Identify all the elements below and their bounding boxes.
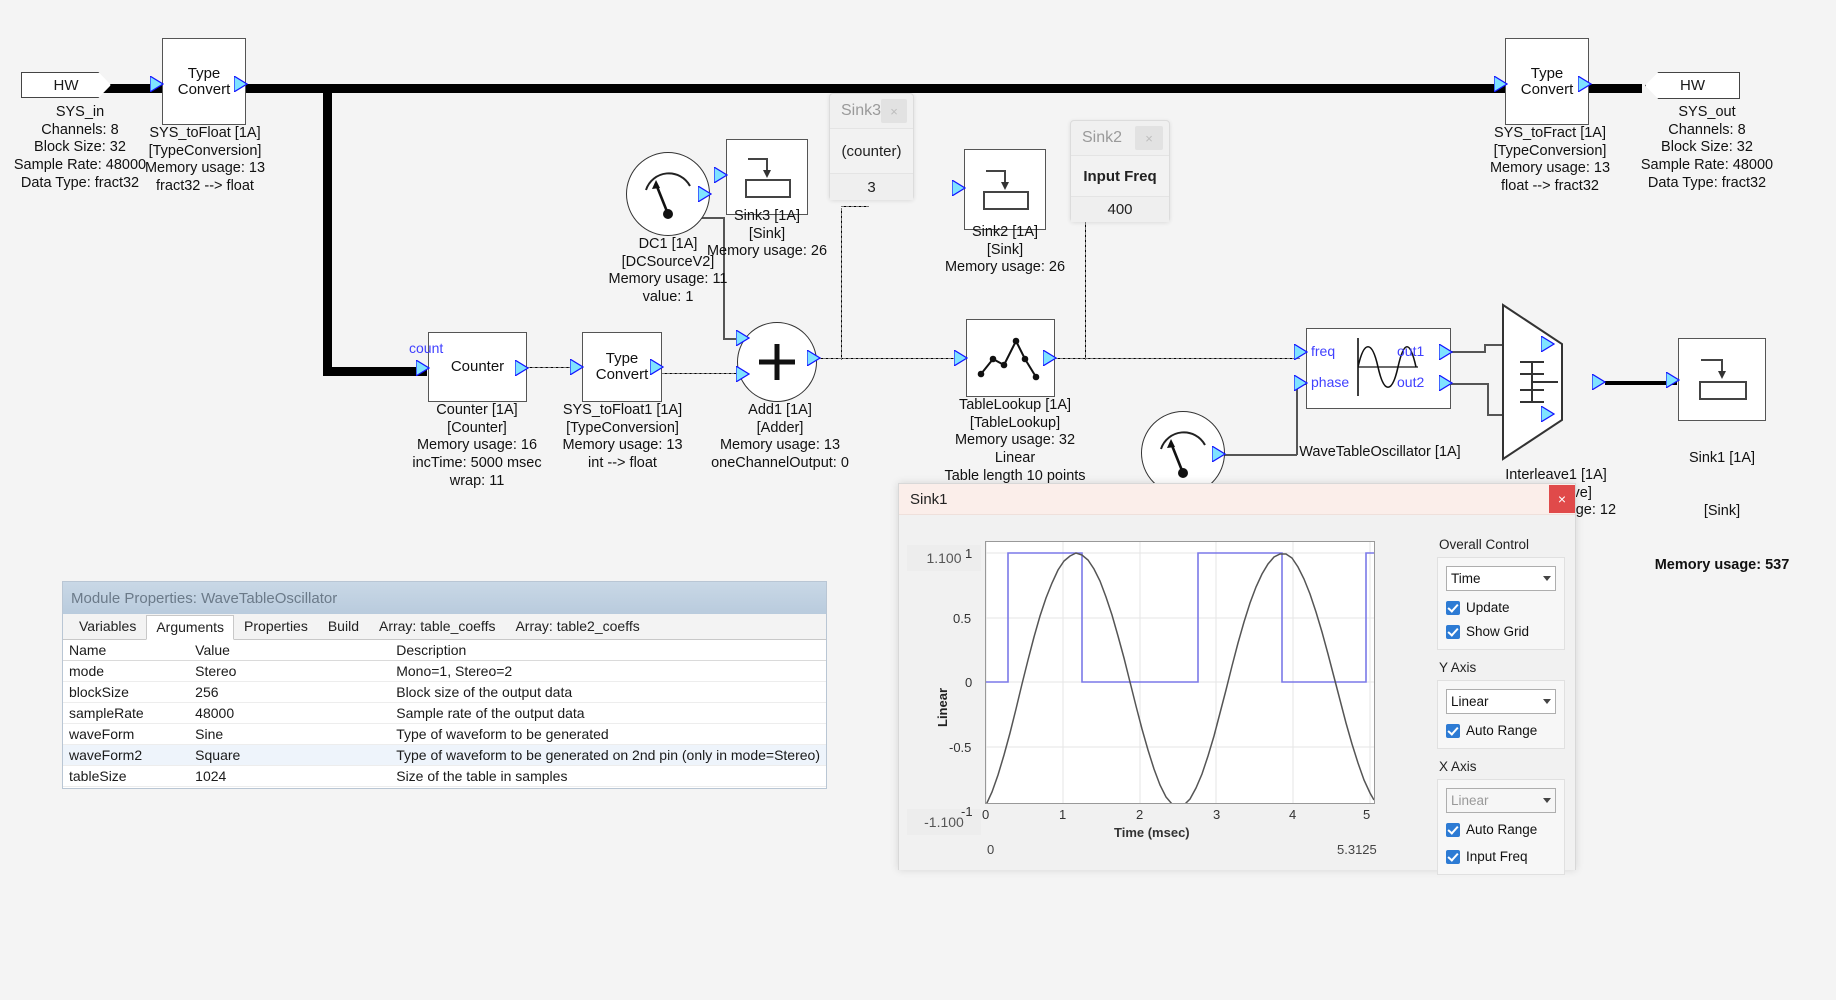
- x-axis-header: X Axis: [1439, 759, 1565, 774]
- table-header-row: Name Value Description: [63, 640, 826, 661]
- interleave-in1-port[interactable]: [1541, 336, 1555, 352]
- sys-tofract-out-port[interactable]: [1578, 76, 1592, 92]
- x-right-range[interactable]: 5.3125: [1337, 842, 1377, 857]
- zigzag-icon: [966, 319, 1055, 397]
- y-axis-value: Linear: [1451, 694, 1489, 709]
- y-auto-range-label: Auto Range: [1466, 723, 1537, 738]
- table-row[interactable]: tableSize 1024 Size of the table in samp…: [63, 766, 826, 787]
- x-tick-5: 5: [1363, 807, 1370, 822]
- wire-main-bus: [239, 84, 1505, 93]
- row-value[interactable]: 48000: [189, 703, 390, 724]
- tab-array-table2-coeffs[interactable]: Array: table2_coeffs: [505, 614, 649, 639]
- sink3-popup-window[interactable]: Sink3 × (counter) 3: [829, 93, 914, 200]
- sink1-caption-line1: Sink1 [1A]: [1632, 450, 1812, 468]
- wire-out2-v: [1487, 383, 1489, 416]
- module-properties-panel[interactable]: Module Properties: WaveTableOscillator V…: [62, 581, 827, 789]
- update-label: Update: [1466, 600, 1510, 615]
- row-name: blockSize: [63, 682, 189, 703]
- module-properties-title: Module Properties: WaveTableOscillator: [63, 582, 826, 614]
- row-value[interactable]: Sine: [189, 724, 390, 745]
- column-header-name: Name: [63, 640, 189, 661]
- x-left-range[interactable]: 0: [987, 842, 994, 857]
- show-grid-checkbox[interactable]: [1446, 625, 1460, 639]
- sink2-in-port[interactable]: [952, 180, 966, 196]
- row-description: Size of the table in samples: [390, 766, 826, 787]
- x-auto-range-checkbox[interactable]: [1446, 823, 1460, 837]
- wire-out2-a: [1450, 383, 1488, 385]
- x-tick-0: 0: [982, 807, 989, 822]
- row-name: sampleRate: [63, 703, 189, 724]
- sink1-controls[interactable]: Overall Control Time Update Show Grid: [1437, 537, 1565, 885]
- sink2-popup-titlebar[interactable]: Sink2 ×: [1071, 121, 1169, 155]
- wire-bus-down: [323, 84, 332, 375]
- interleave-in2-port[interactable]: [1541, 406, 1555, 422]
- tab-properties[interactable]: Properties: [234, 614, 318, 639]
- overall-control-select[interactable]: Time: [1446, 566, 1556, 591]
- x-axis-value: Linear: [1451, 793, 1489, 808]
- row-name: waveForm2: [63, 745, 189, 766]
- sys-tofract-box[interactable]: Type Convert: [1505, 38, 1589, 125]
- sink3-popup-body: (counter): [830, 128, 913, 174]
- sink3-popup-titlebar[interactable]: Sink3 ×: [830, 94, 913, 128]
- sys-out-caption: SYS_out Channels: 8 Block Size: 32 Sampl…: [1597, 104, 1817, 192]
- column-header-description: Description: [390, 640, 826, 661]
- x-axis-label: Time (msec): [1114, 825, 1190, 840]
- plot-svg: [986, 542, 1374, 803]
- wavetable-caption-line1: WaveTableOscillator [1A]: [1282, 444, 1478, 462]
- sink2-popup-window[interactable]: Sink2 × Input Freq 400: [1070, 120, 1170, 222]
- sys-tofract-label: Type Convert: [1521, 66, 1574, 98]
- table-row-selected[interactable]: waveForm2 Square Type of waveform to be …: [63, 745, 826, 766]
- row-description: Mono=1, Stereo=2: [390, 661, 826, 682]
- waveform-icon: [1306, 328, 1451, 409]
- arguments-table[interactable]: Name Value Description mode Stereo Mono=…: [63, 640, 826, 787]
- chevron-down-icon[interactable]: [1543, 798, 1551, 803]
- counter-label: Counter: [451, 359, 504, 375]
- row-description: Type of waveform to be generated on 2nd …: [390, 745, 826, 766]
- y-axis-header: Y Axis: [1439, 660, 1565, 675]
- row-name: mode: [63, 661, 189, 682]
- close-icon[interactable]: ×: [1549, 485, 1575, 513]
- wavetable-freq-label: freq: [1311, 343, 1335, 359]
- tablelookup-out-port[interactable]: [1043, 350, 1057, 366]
- sink1-caption: Sink1 [1A] [Sink] Memory usage: 537: [1632, 415, 1812, 610]
- tab-build[interactable]: Build: [318, 614, 369, 639]
- table-row[interactable]: mode Stereo Mono=1, Stereo=2: [63, 661, 826, 682]
- wavetable-out2-label: out2: [1397, 374, 1424, 390]
- row-value[interactable]: Stereo: [189, 661, 390, 682]
- row-value[interactable]: 256: [189, 682, 390, 703]
- counter-out-port-label: count: [409, 340, 443, 356]
- sink3-popup-value: 3: [830, 174, 913, 200]
- table-row[interactable]: waveForm Sine Type of waveform to be gen…: [63, 724, 826, 745]
- wavetable-out1-port[interactable]: [1439, 344, 1453, 360]
- input-freq-label: Input Freq: [1466, 849, 1528, 864]
- sink1-window-body: 1.100 -1.100 Linear 1 0.5 0 -0.5 -1: [899, 515, 1575, 870]
- close-icon[interactable]: ×: [881, 99, 907, 123]
- x-axis-select[interactable]: Linear: [1446, 788, 1556, 813]
- sink2-popup-value: 400: [1071, 197, 1169, 222]
- sink2-popup-title: Sink2: [1082, 129, 1122, 147]
- sink-icon: [726, 139, 808, 215]
- sink1-memory-usage: Memory usage: 537: [1632, 557, 1812, 575]
- table-row[interactable]: blockSize 256 Block size of the output d…: [63, 682, 826, 703]
- sys-out-label: HW: [1680, 77, 1705, 94]
- y-tick-1: 1: [965, 546, 972, 561]
- y-tick-0_5: 0.5: [953, 611, 971, 626]
- sys-tofloat1-out-port[interactable]: [650, 359, 664, 375]
- x-auto-range-label: Auto Range: [1466, 822, 1537, 837]
- tab-array-table-coeffs[interactable]: Array: table_coeffs: [369, 614, 505, 639]
- y-axis-caption: Linear: [935, 688, 950, 727]
- row-value[interactable]: 1024: [189, 766, 390, 787]
- sys-tofloat-label: Type Convert: [178, 66, 231, 98]
- x-tick-1: 1: [1059, 807, 1066, 822]
- sink2-popup-body: Input Freq: [1071, 155, 1169, 197]
- wire-out1-a: [1450, 351, 1486, 353]
- sink-icon: [1678, 338, 1766, 421]
- sink1-window-title: Sink1: [910, 491, 948, 508]
- sink1-in-port[interactable]: [1666, 372, 1680, 388]
- sys-in-shape[interactable]: HW: [21, 72, 111, 98]
- overall-control-header: Overall Control: [1439, 537, 1565, 552]
- tab-variables[interactable]: Variables: [69, 614, 146, 639]
- dc1-out-port[interactable]: [698, 186, 712, 202]
- update-checkbox[interactable]: [1446, 601, 1460, 615]
- sink-icon: [964, 149, 1046, 230]
- input-freq-row[interactable]: Input Freq: [1446, 849, 1556, 864]
- add1-in1-port[interactable]: [736, 330, 750, 346]
- chevron-down-icon[interactable]: [1543, 699, 1551, 704]
- sys-tofloat1-in-port[interactable]: [570, 359, 584, 375]
- x-tick-3: 3: [1213, 807, 1220, 822]
- wire-add1-sink3-h: [841, 206, 869, 207]
- wavetable-freq-port[interactable]: [1294, 344, 1308, 360]
- y-auto-range-row[interactable]: Auto Range: [1446, 723, 1556, 738]
- y-tick-0: 0: [965, 675, 972, 690]
- row-description: Block size of the output data: [390, 682, 826, 703]
- add1-in2-port[interactable]: [736, 366, 750, 382]
- sink3-popup-title: Sink3: [841, 102, 881, 120]
- column-header-value: Value: [189, 640, 390, 661]
- x-tick-4: 4: [1289, 807, 1296, 822]
- sys-tofloat-caption: SYS_toFloat [1A] [TypeConversion] Memory…: [95, 125, 315, 196]
- module-properties-tabbar[interactable]: Variables Arguments Properties Build Arr…: [63, 614, 826, 640]
- dc2-out-port[interactable]: [1212, 446, 1226, 462]
- chevron-down-icon[interactable]: [1543, 576, 1551, 581]
- tablelookup-in-port[interactable]: [954, 350, 968, 366]
- show-grid-label: Show Grid: [1466, 624, 1529, 639]
- overall-control-box[interactable]: Time Update Show Grid: [1437, 557, 1565, 650]
- sys-out-shape[interactable]: HW: [1645, 72, 1740, 99]
- y-axis-select[interactable]: Linear: [1446, 689, 1556, 714]
- overall-control-value: Time: [1451, 571, 1481, 586]
- wavetable-out2-port[interactable]: [1439, 375, 1453, 391]
- y-auto-range-checkbox[interactable]: [1446, 724, 1460, 738]
- x-auto-range-row[interactable]: Auto Range: [1446, 822, 1556, 837]
- counter-in-port[interactable]: [416, 360, 430, 376]
- input-freq-checkbox[interactable]: [1446, 850, 1460, 864]
- wire-tofloat1-add1: [652, 373, 739, 374]
- x-tick-2: 2: [1136, 807, 1143, 822]
- wire-tablelookup-wavetable: [1055, 358, 1300, 359]
- close-icon[interactable]: ×: [1135, 126, 1163, 150]
- sink1-window[interactable]: Sink1 × 1.100 -1.100 Linear 1 0.5 0 -0.5…: [898, 483, 1576, 870]
- x-axis-box[interactable]: Linear Auto Range Input Freq: [1437, 779, 1565, 875]
- y-tick-neg1: -1: [961, 804, 973, 819]
- counter-out-port[interactable]: [515, 360, 529, 376]
- wavetable-out1-label: out1: [1397, 343, 1424, 359]
- sys-tofloat-in-port[interactable]: [150, 76, 164, 92]
- add1-caption: Add1 [1A] [Adder] Memory usage: 13 oneCh…: [690, 402, 870, 473]
- sys-tofract-in-port[interactable]: [1494, 76, 1508, 92]
- sink1-caption-line2: [Sink]: [1632, 503, 1812, 521]
- row-name: tableSize: [63, 766, 189, 787]
- y-axis-box[interactable]: Linear Auto Range: [1437, 680, 1565, 749]
- tab-arguments[interactable]: Arguments: [146, 615, 234, 640]
- y-tick-neg0_5: -0.5: [949, 740, 971, 755]
- table-row[interactable]: sampleRate 48000 Sample rate of the outp…: [63, 703, 826, 724]
- sys-tofloat1-label: Type Convert: [596, 351, 649, 383]
- add1-out-port[interactable]: [807, 350, 821, 366]
- sink1-window-titlebar[interactable]: Sink1 ×: [899, 484, 1575, 515]
- plot-area[interactable]: [985, 541, 1375, 804]
- row-description: Sample rate of the output data: [390, 703, 826, 724]
- interleave-out-port[interactable]: [1592, 374, 1606, 390]
- update-checkbox-row[interactable]: Update: [1446, 600, 1556, 615]
- wire-bus-to-counter: [323, 367, 427, 376]
- wavetable-phase-label: phase: [1311, 374, 1349, 390]
- show-grid-checkbox-row[interactable]: Show Grid: [1446, 624, 1556, 639]
- row-description: Type of waveform to be generated: [390, 724, 826, 745]
- row-value[interactable]: Square: [189, 745, 390, 766]
- sys-tofloat-out-port[interactable]: [234, 76, 248, 92]
- sys-in-label: HW: [54, 77, 79, 94]
- wavetable-phase-port[interactable]: [1294, 375, 1308, 391]
- row-name: waveForm: [63, 724, 189, 745]
- sink3-in-port[interactable]: [714, 167, 728, 183]
- sink2-caption: Sink2 [1A] [Sink] Memory usage: 26: [915, 224, 1095, 277]
- sink3-caption: Sink3 [1A] [Sink] Memory usage: 26: [677, 208, 857, 261]
- block-diagram-canvas[interactable]: HW SYS_in Channels: 8 Block Size: 32 Sam…: [0, 0, 1836, 1000]
